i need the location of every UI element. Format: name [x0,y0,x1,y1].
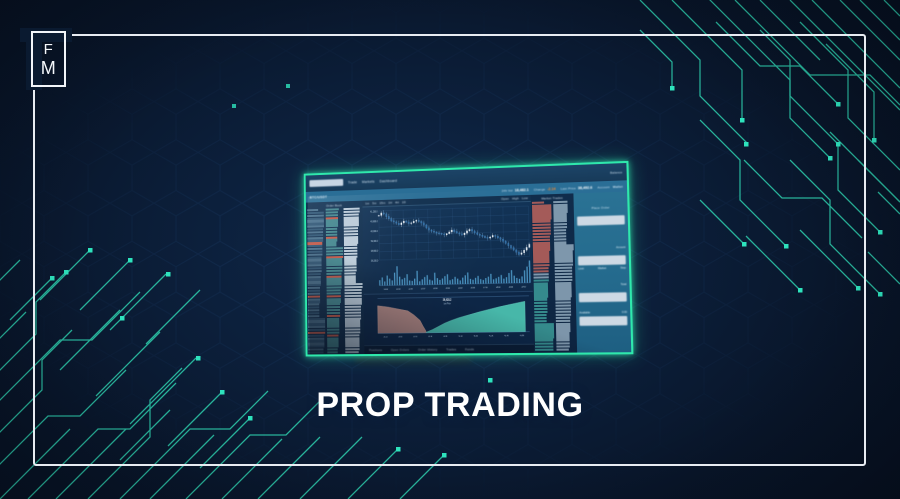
order-entry-available-value: 0.00 [622,311,627,314]
svg-text:39.8k: 39.8k [443,336,448,338]
svg-text:38,200.0: 38,200.0 [371,259,379,263]
order-book-column [325,208,344,353]
chart-legend-low: Low [522,196,528,200]
trading-monitor: Trade Markets Dashboard Balance BTC/USDT… [296,145,632,360]
svg-text:18:00: 18:00 [496,287,501,290]
ticker-label-1: 24h Vol [502,188,513,192]
page-title: PROP TRADING [0,386,900,425]
order-book-right-title: Market Trades [541,196,563,201]
order-entry-title: Place Order [591,205,609,210]
svg-text:40,000.0: 40,000.0 [371,230,379,234]
order-book-column [307,209,326,354]
order-book-left-title: Order Book [326,203,342,207]
svg-text:40,600.0: 40,600.0 [370,220,378,224]
order-book-left-columns[interactable] [307,208,364,354]
topbar-menu-markets[interactable]: Markets [362,179,375,183]
svg-text:12:00: 12:00 [421,288,426,290]
chart-tf-1h[interactable]: 1H [388,201,392,205]
svg-text:41.4k: 41.4k [504,335,509,337]
svg-text:38,800.0: 38,800.0 [371,249,379,253]
bottom-tabs-panel[interactable]: Positions Open Orders Order History Trad… [364,344,534,354]
svg-text:17:00: 17:00 [483,287,488,290]
svg-text:20:00: 20:00 [521,286,526,289]
chart-tf-4h[interactable]: 4H [395,200,399,204]
order-book-row[interactable] [308,351,323,353]
svg-text:38.6k: 38.6k [398,336,403,338]
bottom-tab-open-orders[interactable]: Open Orders [391,348,409,352]
candlestick-chart[interactable]: 41,200.040,600.040,000.039,400.038,800.0… [362,202,532,294]
chart-tf-5m[interactable]: 5m [372,201,376,205]
order-book-right-columns[interactable] [532,201,576,351]
bottom-tab-positions[interactable]: Positions [369,348,382,352]
monitor-screen: Trade Markets Dashboard Balance BTC/USDT… [304,161,634,357]
subbar-section-account[interactable]: Account [597,185,609,190]
topbar-menu-dashboard[interactable]: Dashboard [379,178,397,183]
order-entry-tab-limit[interactable]: Limit [578,267,584,270]
svg-text:39,400.0: 39,400.0 [371,239,379,243]
market-depth-chart[interactable]: 38.2k38.6k39.0k39.4k39.8k40.2k40.6k41.0k… [364,291,534,345]
chart-legend-open: Open [501,197,509,201]
svg-text:13:00: 13:00 [433,288,438,290]
svg-text:38.2k: 38.2k [383,336,388,338]
svg-text:39.4k: 39.4k [428,336,433,338]
bottom-tab-order-history[interactable]: Order History [418,348,437,352]
ticker-label-3: Last Price [561,186,576,191]
chart-tf-1m[interactable]: 1m [365,201,369,205]
chart-tf-1d[interactable]: 1D [402,200,406,204]
order-entry-submit-button[interactable] [579,316,627,326]
banner-canvas: F M Trade Markets Dashboard Balance [0,0,900,499]
svg-text:40.2k: 40.2k [458,336,463,338]
svg-text:41.0k: 41.0k [489,335,494,337]
order-entry-total-label: Total [621,283,627,286]
svg-text:39.0k: 39.0k [413,336,418,338]
svg-text:40.6k: 40.6k [474,336,479,338]
svg-text:Last Price: Last Price [444,302,452,306]
order-book-column [344,208,364,354]
order-entry-panel[interactable]: Place Order Amount Limit Market [573,192,631,353]
order-book-column [532,201,555,351]
svg-text:16:00: 16:00 [471,287,476,290]
svg-text:11:00: 11:00 [408,288,413,290]
order-entry-total-field[interactable] [579,292,627,302]
order-entry-tab-market[interactable]: Market [598,267,606,270]
dashboard-body: Order Book 1m 5m 15m 1H 4H [306,192,631,355]
ticker-value-2: -2.14 [547,186,555,190]
chart-tf-15m[interactable]: 15m [379,201,385,205]
order-book-column [553,201,576,351]
bottom-tab-trades[interactable]: Trades [446,347,456,351]
svg-text:15:00: 15:00 [458,287,463,289]
fm-logo-letter-m: M [41,59,57,77]
ticker-value-3: 38,492.6 [578,185,592,190]
svg-text:19:00: 19:00 [509,286,514,289]
dashboard-logo-pill[interactable] [309,179,343,187]
order-book-row[interactable] [327,351,338,353]
topbar-menu-trade[interactable]: Trade [348,180,357,184]
order-book-right[interactable]: Market Trades [531,193,577,352]
order-book-left[interactable]: Order Book [306,201,365,355]
order-entry-amount-field[interactable] [578,255,626,265]
ticker-label-2: Change [534,187,546,191]
fm-logo[interactable]: F M [31,31,66,87]
order-book-row[interactable] [346,351,359,353]
order-entry-amount-label: Amount [616,246,625,249]
order-entry-available-label: Available [579,311,590,314]
svg-text:10:00: 10:00 [396,289,401,291]
svg-text:41.8k: 41.8k [520,335,525,337]
topbar-account-value[interactable]: Wallet [613,184,623,188]
fm-logo-letter-f: F [44,42,54,57]
svg-text:39,428.2: 39,428.2 [443,297,452,302]
order-book-row[interactable] [535,348,553,351]
ticker-value-1: 18,482.1 [515,187,529,192]
chart-legend-high: High [512,196,519,200]
order-entry-price-field[interactable] [577,215,625,226]
svg-text:41,200.0: 41,200.0 [370,210,378,214]
topbar-account-label: Balance [610,170,622,175]
order-entry-tab-stop[interactable]: Stop [620,266,626,269]
chart-center-column: 1m 5m 15m 1H 4H 1D Open High Low [362,195,534,354]
bottom-tab-funds[interactable]: Funds [465,347,474,351]
svg-text:14:00: 14:00 [446,288,451,290]
subbar-pair[interactable]: BTC/USDT [310,195,328,199]
svg-text:09:00: 09:00 [384,289,389,291]
order-book-row[interactable] [556,348,569,351]
